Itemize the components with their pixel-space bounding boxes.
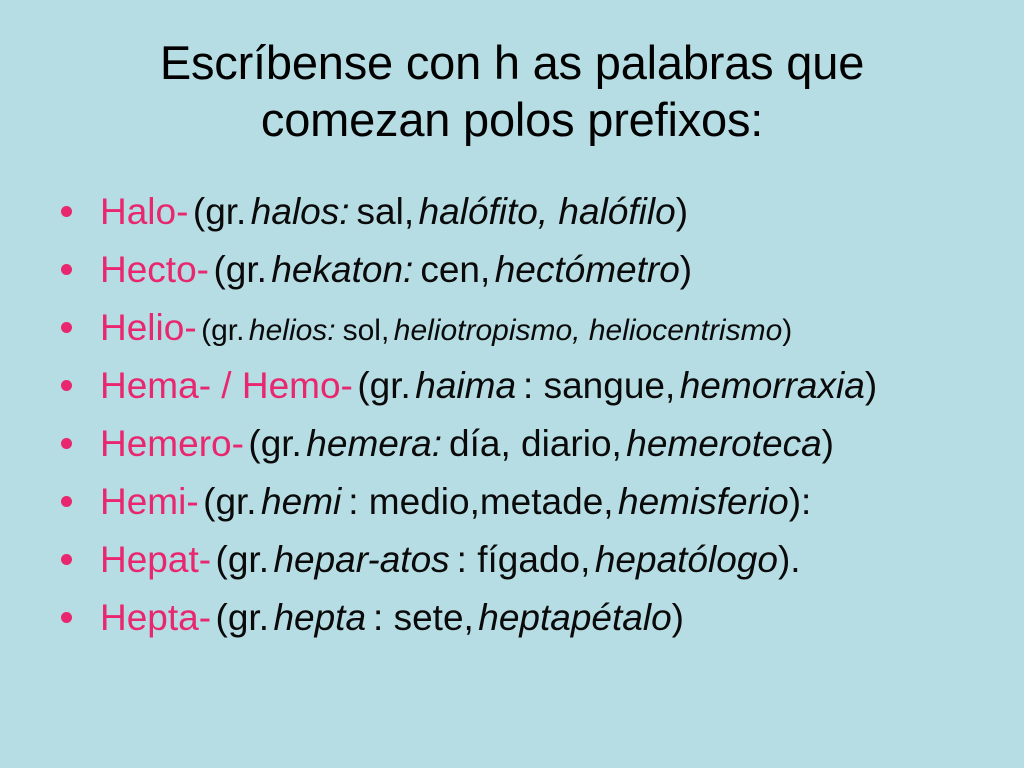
gloss-close-paren: ) <box>865 365 877 406</box>
prefix-term: Hemi- <box>100 481 199 522</box>
gloss-close-paren: ) <box>680 249 692 290</box>
gloss-meaning: : fígado, <box>450 539 591 580</box>
greek-root: hepar-atos <box>273 539 449 580</box>
gloss-open-paren: (gr. <box>216 539 269 580</box>
prefix-term: Helio- <box>100 307 197 348</box>
prefix-term: Hemero- <box>100 423 244 464</box>
page-title-line-1: Escríbense con h as palabras que <box>0 34 1024 91</box>
prefix-term: Hema- / Hemo- <box>100 365 353 406</box>
prefix-term: Halo- <box>100 191 188 232</box>
bullet-dot-icon <box>61 612 72 623</box>
list-item: Halo- (gr. halos:sal, halófito, halófilo… <box>52 186 1012 244</box>
list-item-text: Hecto- (gr. hekaton:cen, hectómetro) <box>100 244 692 304</box>
gloss-close-paren: ): <box>789 481 812 522</box>
gloss-open-paren: (gr. <box>248 423 301 464</box>
gloss-meaning: día, diario, <box>442 423 622 464</box>
gloss-close-paren: ) <box>676 191 688 232</box>
gloss-meaning: : sangue, <box>516 365 675 406</box>
bullet-dot-icon <box>61 322 72 333</box>
gloss-close-paren: ) <box>672 597 684 638</box>
greek-root: halos: <box>251 191 350 232</box>
list-item: Hepta- (gr. hepta: sete, heptapétalo) <box>52 592 1012 650</box>
gloss-examples: hemeroteca <box>626 423 821 464</box>
greek-root: hekaton: <box>271 249 413 290</box>
gloss-meaning: sal, <box>350 191 415 232</box>
list-item: Hemero- (gr. hemera:día, diario, hemerot… <box>52 418 1012 476</box>
gloss-examples: hemorraxia <box>680 365 865 406</box>
list-item: Helio- (gr. helios:sol, heliotropismo, h… <box>52 302 1012 360</box>
gloss-examples: hectómetro <box>495 249 680 290</box>
gloss-close-paren: ) <box>822 423 834 464</box>
gloss-open-paren: (gr. <box>201 314 244 347</box>
bullet-dot-icon <box>61 438 72 449</box>
list-item-text: Hema- / Hemo- (gr. haima: sangue, hemorr… <box>100 360 877 420</box>
list-item-text: Hepat- (gr. hepar-atos: fígado, hepatólo… <box>100 534 801 594</box>
bullet-dot-icon <box>61 206 72 217</box>
gloss-examples: heliotropismo, heliocentrismo <box>394 314 783 347</box>
list-item-text: Halo- (gr. halos:sal, halófito, halófilo… <box>100 186 688 246</box>
gloss-close-paren: ) <box>782 314 792 347</box>
page-title: Escríbense con h as palabras que comezan… <box>0 34 1024 148</box>
gloss-meaning: sol, <box>336 314 390 347</box>
slide-canvas: Escríbense con h as palabras que comezan… <box>0 0 1024 768</box>
list-item: Hemi- (gr. hemi: medio,metade, hemisferi… <box>52 476 1012 534</box>
gloss-examples: hemisferio <box>618 481 789 522</box>
gloss-close-paren: ). <box>778 539 801 580</box>
bullet-dot-icon <box>61 554 72 565</box>
gloss-open-paren: (gr. <box>193 191 246 232</box>
gloss-examples: hepatólogo <box>595 539 778 580</box>
bullet-dot-icon <box>61 380 72 391</box>
greek-root: helios: <box>249 314 336 347</box>
list-item: Hepat- (gr. hepar-atos: fígado, hepatólo… <box>52 534 1012 592</box>
gloss-open-paren: (gr. <box>213 249 266 290</box>
list-item-text: Hemi- (gr. hemi: medio,metade, hemisferi… <box>100 476 811 536</box>
bullet-dot-icon <box>61 264 72 275</box>
bullet-dot-icon <box>61 496 72 507</box>
gloss-open-paren: (gr. <box>216 597 269 638</box>
prefix-list: Halo- (gr. halos:sal, halófito, halófilo… <box>52 186 1012 650</box>
gloss-examples: halófito, halófilo <box>419 191 676 232</box>
gloss-meaning: cen, <box>413 249 490 290</box>
gloss-meaning: : medio,metade, <box>341 481 613 522</box>
list-item: Hecto- (gr. hekaton:cen, hectómetro) <box>52 244 1012 302</box>
prefix-term: Hecto- <box>100 249 209 290</box>
gloss-meaning: : sete, <box>366 597 474 638</box>
list-item-text: Helio- (gr. helios:sol, heliotropismo, h… <box>100 302 792 362</box>
prefix-term: Hepta- <box>100 597 211 638</box>
greek-root: hepta <box>273 597 366 638</box>
gloss-examples: heptapétalo <box>478 597 671 638</box>
greek-root: hemi <box>261 481 341 522</box>
greek-root: hemera: <box>306 423 442 464</box>
page-title-line-2: comezan polos prefixos: <box>0 91 1024 148</box>
prefix-term: Hepat- <box>100 539 211 580</box>
gloss-open-paren: (gr. <box>357 365 410 406</box>
list-item-text: Hepta- (gr. hepta: sete, heptapétalo) <box>100 592 684 652</box>
gloss-open-paren: (gr. <box>203 481 256 522</box>
greek-root: haima <box>415 365 516 406</box>
list-item-text: Hemero- (gr. hemera:día, diario, hemerot… <box>100 418 834 478</box>
list-item: Hema- / Hemo- (gr. haima: sangue, hemorr… <box>52 360 1012 418</box>
